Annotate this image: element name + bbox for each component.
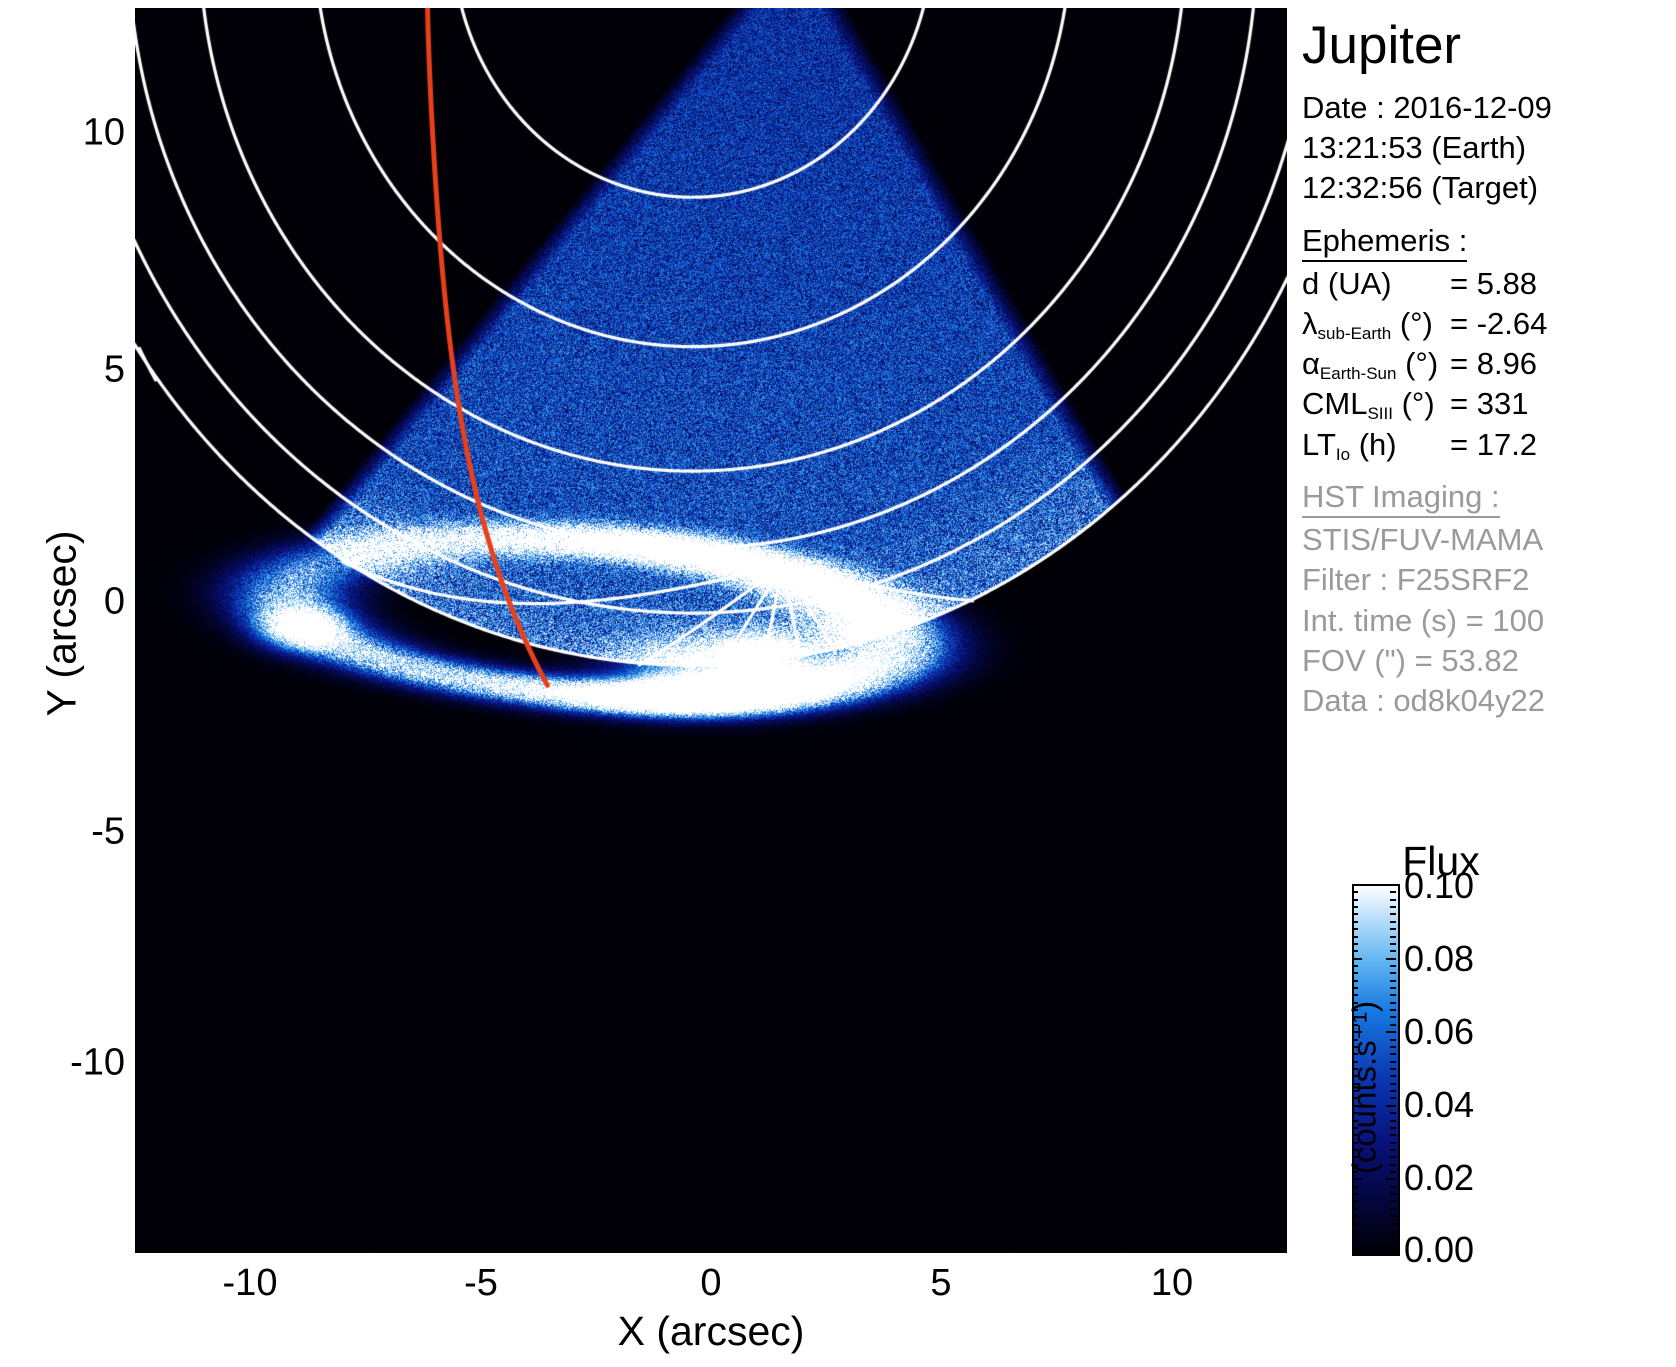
colorbar-minor-tick [1352,884,1358,886]
colorbar-tick-label: 0.06 [1404,1011,1474,1053]
colorbar-minor-tick [1352,1090,1358,1092]
colorbar-minor-tick [1352,1061,1358,1063]
colorbar-minor-tick [1390,1142,1396,1144]
observation-time-earth: 13:21:53 (Earth) [1302,128,1670,168]
ephemeris-label-lambda: λ [1302,306,1318,341]
colorbar-minor-tick [1390,943,1396,945]
hst-integration-time: Int. time (s) = 100 [1302,601,1670,641]
ephemeris-heading: Ephemeris : [1302,223,1467,262]
colorbar-minor-tick [1390,1134,1396,1136]
colorbar-minor-tick [1390,1178,1396,1180]
colorbar-minor-tick [1390,1171,1396,1173]
colorbar-minor-tick [1352,1193,1358,1195]
observation-info-panel: Jupiter Date : 2016-12-09 13:21:53 (Eart… [1298,10,1670,722]
colorbar-minor-tick [1352,1024,1358,1026]
colorbar-minor-tick [1352,1208,1358,1210]
colorbar-minor-tick [1390,1127,1396,1129]
colorbar-minor-tick [1390,1215,1396,1217]
colorbar-minor-tick [1390,1031,1396,1033]
colorbar-minor-tick [1352,1200,1358,1202]
colorbar-minor-tick [1390,1149,1396,1151]
x-tick-label: 0 [631,1262,791,1305]
colorbar-minor-tick [1390,972,1396,974]
colorbar-tick-label: 0.04 [1404,1084,1474,1126]
hst-imaging-heading: HST Imaging : [1302,479,1500,518]
colorbar-minor-tick [1390,965,1396,967]
ephemeris-value-alpha: = 8.96 [1450,346,1537,381]
ephemeris-unit-alpha: (°) [1405,346,1438,381]
colorbar-minor-tick [1390,921,1396,923]
target-title: Jupiter [1302,18,1670,74]
colorbar-minor-tick [1352,921,1358,923]
colorbar-minor-tick [1390,1208,1396,1210]
y-tick-label: -5 [5,811,125,854]
colorbar-minor-tick [1390,1237,1396,1239]
colorbar-minor-tick [1352,987,1358,989]
aurora-image-plot [135,8,1287,1253]
x-tick-label: 10 [1092,1262,1252,1305]
colorbar-minor-tick [1352,958,1358,960]
colorbar-minor-tick [1352,891,1358,893]
colorbar-minor-tick [1390,913,1396,915]
y-tick-label: 10 [5,112,125,155]
colorbar-minor-tick [1352,1156,1358,1158]
colorbar-minor-tick [1390,1009,1396,1011]
colorbar-minor-tick [1352,1164,1358,1166]
colorbar-minor-tick [1352,1083,1358,1085]
colorbar-minor-tick [1390,891,1396,893]
colorbar-minor-tick [1390,936,1396,938]
colorbar-minor-tick [1352,1171,1358,1173]
ephemeris-unit-lt: (h) [1359,427,1397,462]
colorbar-minor-tick [1352,1245,1358,1247]
colorbar-minor-tick [1390,1075,1396,1077]
y-axis-label: Y (arcsec) [39,474,86,774]
ephemeris-row-alpha: αEarth-Sun (°)= 8.96 [1302,344,1670,384]
colorbar-minor-tick [1352,1031,1358,1033]
x-tick-label: -10 [170,1262,330,1305]
colorbar-minor-tick [1352,906,1358,908]
colorbar-minor-tick [1352,1068,1358,1070]
ephemeris-unit-lambda: (°) [1400,306,1433,341]
ephemeris-unit-cml: (°) [1402,386,1435,421]
colorbar-minor-tick [1390,928,1396,930]
y-tick-label: 5 [5,349,125,392]
ephemeris-row-lambda: λsub-Earth (°)= -2.64 [1302,304,1670,344]
colorbar-minor-tick [1352,1120,1358,1122]
colorbar-minor-tick [1352,1002,1358,1004]
colorbar-minor-tick [1390,1097,1396,1099]
colorbar-minor-tick [1352,1127,1358,1129]
colorbar-minor-tick [1352,1075,1358,1077]
colorbar-minor-tick [1352,1142,1358,1144]
colorbar-minor-tick [1352,1053,1358,1055]
colorbar-minor-tick [1352,980,1358,982]
colorbar-unit-label: (counts.s⁻¹) [1345,938,1384,1238]
colorbar-minor-tick [1352,1105,1358,1107]
observation-date: Date : 2016-12-09 [1302,88,1670,128]
colorbar-tick-label: 0.02 [1404,1157,1474,1199]
colorbar-minor-tick [1390,1053,1396,1055]
colorbar-minor-tick [1390,1105,1396,1107]
colorbar-minor-tick [1352,1230,1358,1232]
colorbar-minor-tick [1390,1186,1396,1188]
colorbar-minor-tick [1352,1186,1358,1188]
colorbar-minor-tick [1352,1149,1358,1151]
colorbar-minor-tick [1352,1215,1358,1217]
colorbar-minor-tick [1390,1090,1396,1092]
colorbar-minor-tick [1352,1097,1358,1099]
colorbar-minor-tick [1390,1068,1396,1070]
colorbar-minor-tick [1352,994,1358,996]
colorbar-minor-tick [1390,994,1396,996]
colorbar-tick-label: 0.00 [1404,1229,1474,1271]
ephemeris-value-cml: = 331 [1450,386,1528,421]
jupiter-uv-aurora-image [135,8,1287,1253]
colorbar-minor-tick [1352,1112,1358,1114]
colorbar-minor-tick [1390,899,1396,901]
ephemeris-value-d: = 5.88 [1450,266,1537,301]
observation-time-target: 12:32:56 (Target) [1302,168,1670,208]
colorbar-minor-tick [1352,1223,1358,1225]
colorbar-minor-tick [1390,987,1396,989]
colorbar-minor-tick [1390,1156,1396,1158]
ephemeris-value-lt: = 17.2 [1450,427,1537,462]
colorbar-minor-tick [1390,1245,1396,1247]
colorbar-minor-tick [1390,1112,1396,1114]
x-axis-label: X (arcsec) [135,1308,1287,1355]
colorbar-minor-tick [1352,1016,1358,1018]
colorbar-minor-tick [1352,1046,1358,1048]
colorbar-minor-tick [1352,1178,1358,1180]
colorbar-minor-tick [1352,943,1358,945]
colorbar-minor-tick [1352,899,1358,901]
colorbar-minor-tick [1352,972,1358,974]
hst-filter: Filter : F25SRF2 [1302,560,1670,600]
colorbar-minor-tick [1390,1046,1396,1048]
colorbar-minor-tick [1390,1200,1396,1202]
colorbar-minor-tick [1390,1120,1396,1122]
colorbar-minor-tick [1390,906,1396,908]
ephemeris-unit-d: (UA) [1328,266,1392,301]
flux-colorbar: Flux (counts.s⁻¹) 0.10 0.08 0.06 0.04 0.… [1298,838,1670,1268]
ephemeris-value-lambda: = -2.64 [1450,306,1547,341]
colorbar-minor-tick [1390,1193,1396,1195]
colorbar-minor-tick [1390,884,1396,886]
colorbar-minor-tick [1352,950,1358,952]
colorbar-minor-tick [1390,1230,1396,1232]
colorbar-minor-tick [1390,1024,1396,1026]
ephemeris-sub-lt: Io [1336,445,1350,464]
ephemeris-sub-cml: SIII [1367,404,1393,423]
colorbar-tick-label: 0.08 [1404,938,1474,980]
hst-field-of-view: FOV (") = 53.82 [1302,641,1670,681]
colorbar-minor-tick [1352,965,1358,967]
colorbar-minor-tick [1390,1164,1396,1166]
y-tick-label: -10 [5,1042,125,1085]
ephemeris-row-lt: LTIo (h)= 17.2 [1302,425,1670,465]
colorbar-minor-tick [1390,950,1396,952]
ephemeris-label-d: d [1302,266,1319,301]
colorbar-minor-tick [1352,913,1358,915]
colorbar-minor-tick [1390,1039,1396,1041]
colorbar-minor-tick [1390,1002,1396,1004]
colorbar-minor-tick [1390,1223,1396,1225]
colorbar-minor-tick [1390,980,1396,982]
x-tick-label: 5 [861,1262,1021,1305]
ephemeris-label-cml: CML [1302,386,1367,421]
colorbar-tick-label: 0.10 [1404,865,1474,907]
ephemeris-sub-lambda: sub-Earth [1318,324,1392,343]
colorbar-minor-tick [1352,936,1358,938]
ephemeris-label-alpha: α [1302,346,1320,381]
x-tick-label: -5 [401,1262,561,1305]
colorbar-minor-tick [1352,1009,1358,1011]
colorbar-minor-tick [1390,958,1396,960]
ephemeris-row-cml: CMLSIII (°)= 331 [1302,384,1670,424]
colorbar-minor-tick [1352,1237,1358,1239]
colorbar-minor-tick [1390,1083,1396,1085]
colorbar-minor-tick [1352,928,1358,930]
ephemeris-sub-alpha: Earth-Sun [1320,364,1397,383]
colorbar-minor-tick [1352,1252,1358,1254]
hst-instrument: STIS/FUV-MAMA [1302,520,1670,560]
colorbar-minor-tick [1390,1016,1396,1018]
colorbar-minor-tick [1352,1134,1358,1136]
hst-dataset-id: Data : od8k04y22 [1302,681,1670,721]
colorbar-minor-tick [1390,1061,1396,1063]
ephemeris-label-lt: LT [1302,427,1336,462]
colorbar-minor-tick [1390,1252,1396,1254]
ephemeris-row-distance: d (UA)= 5.88 [1302,264,1670,304]
colorbar-minor-tick [1352,1039,1358,1041]
